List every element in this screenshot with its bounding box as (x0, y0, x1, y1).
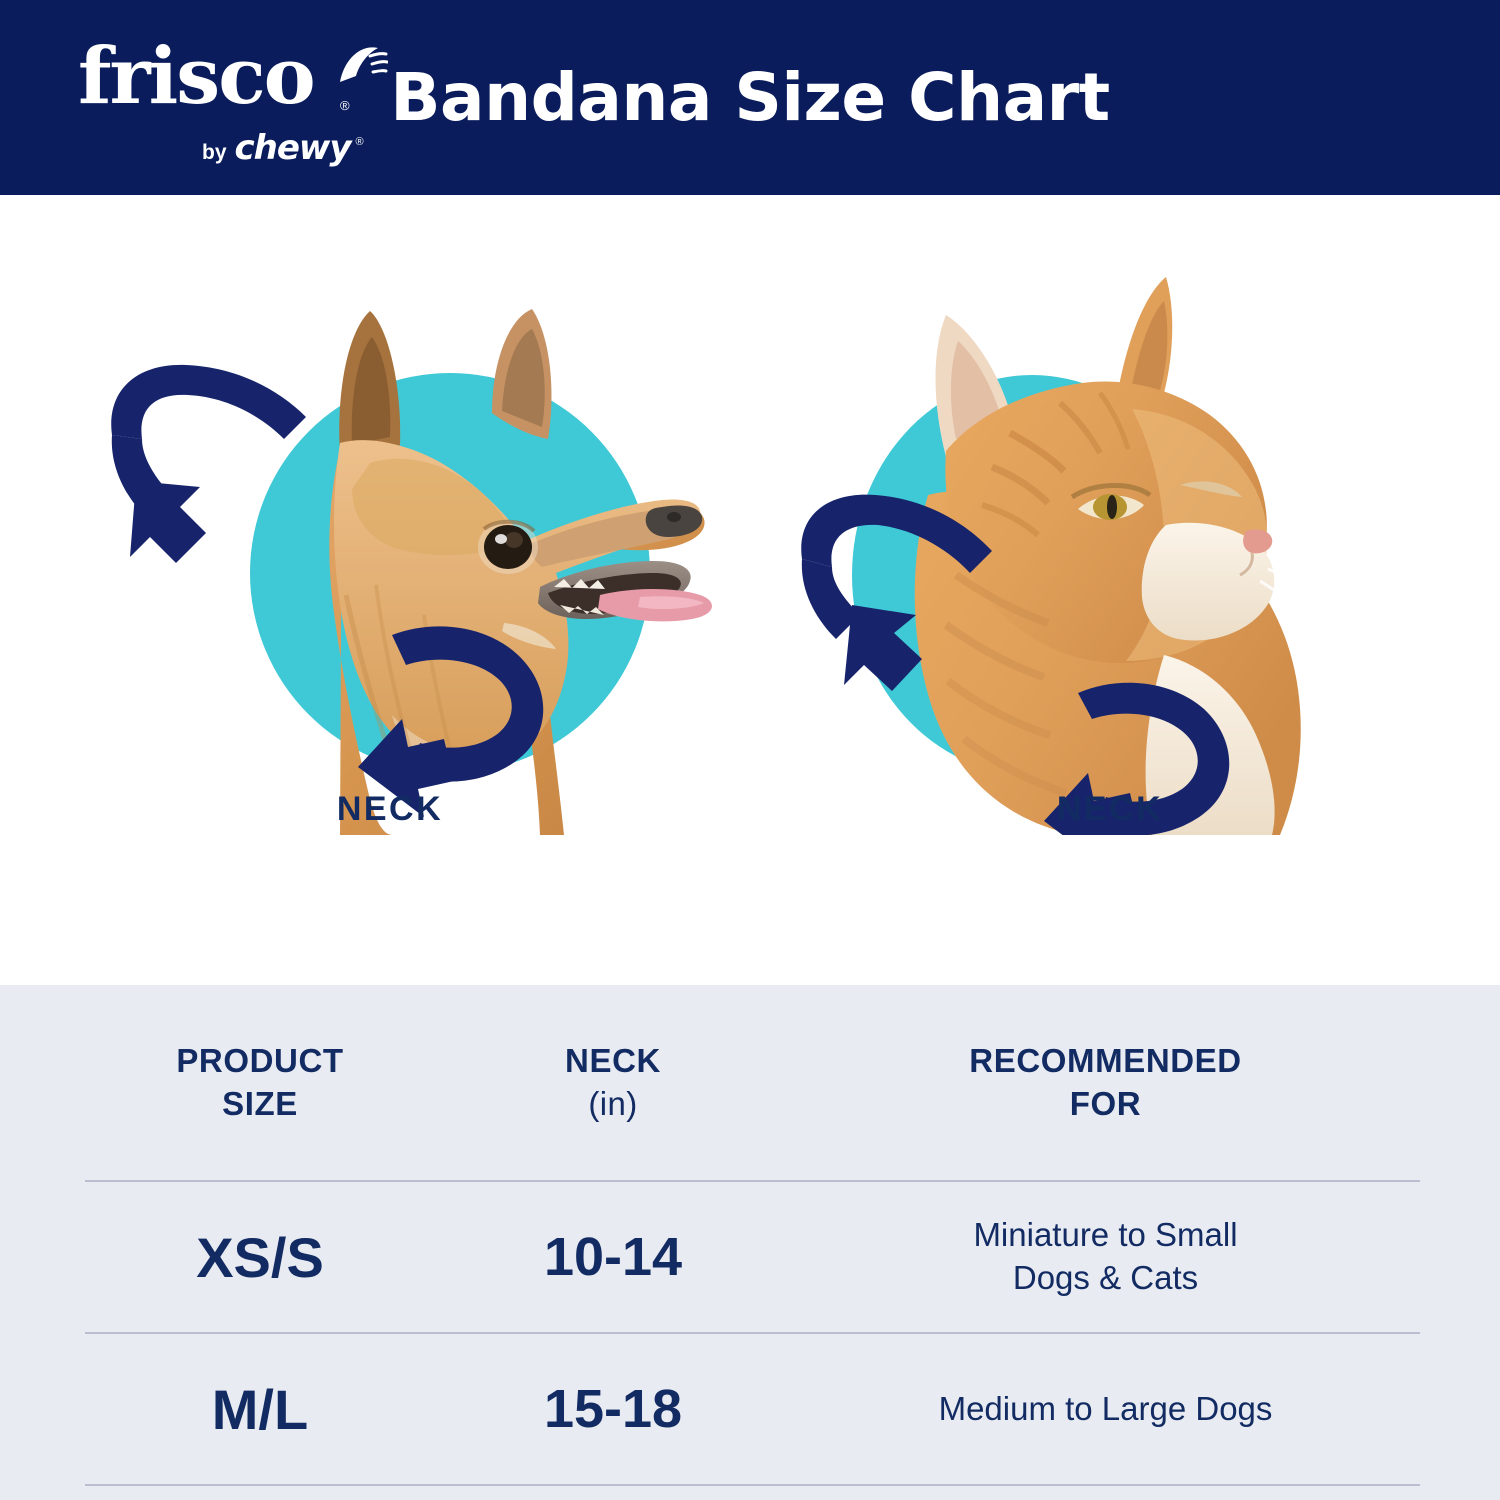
table-divider (85, 1484, 1420, 1486)
dog-neck-label: NECK (40, 790, 740, 829)
dog-head-illustration (40, 195, 740, 835)
by-label: by (202, 141, 227, 165)
cat-measurement-diagram: NECK (760, 195, 1460, 985)
header-band: frisco ® by chewy ® Bandana Size Chart (0, 0, 1500, 195)
column-header-product-size: PRODUCT SIZE (85, 1040, 435, 1124)
table-row: M/L 15-18 Medium to Large Dogs (85, 1334, 1420, 1484)
column-header-recommended-for-line1: RECOMMENDED (969, 1042, 1241, 1079)
cell-recommended-for: Miniature to Small Dogs & Cats (791, 1214, 1420, 1300)
illustration-area: NECK (0, 195, 1500, 985)
chewy-wordmark: chewy (235, 128, 351, 168)
frisco-by-chewy-logo: frisco ® by chewy ® (72, 36, 382, 164)
size-table-inner: PRODUCT SIZE NECK (in) RECOMMENDED FOR X… (85, 985, 1420, 1486)
table-header-row: PRODUCT SIZE NECK (in) RECOMMENDED FOR (85, 985, 1420, 1180)
cell-recommended-for-line2: Dogs & Cats (1013, 1259, 1198, 1296)
column-header-neck-unit: (in) (435, 1083, 791, 1125)
column-header-product-size-line2: SIZE (222, 1085, 298, 1122)
column-header-recommended-for: RECOMMENDED FOR (791, 1040, 1420, 1124)
chewy-registered-mark: ® (356, 136, 364, 148)
bandana-size-chart-page: frisco ® by chewy ® Bandana Size Chart (0, 0, 1500, 1500)
column-header-recommended-for-line2: FOR (1070, 1085, 1141, 1122)
table-row: XS/S 10-14 Miniature to Small Dogs & Cat… (85, 1182, 1420, 1332)
cat-neck-label: NECK (760, 790, 1460, 829)
column-header-neck-line1: NECK (565, 1042, 661, 1079)
cell-product-size: M/L (85, 1377, 435, 1442)
cell-product-size: XS/S (85, 1225, 435, 1290)
frisco-tail-swoosh-icon (330, 42, 388, 92)
cell-neck-range: 10-14 (435, 1226, 791, 1288)
frisco-registered-mark: ® (340, 98, 350, 113)
cell-neck-range: 15-18 (435, 1378, 791, 1440)
size-table: PRODUCT SIZE NECK (in) RECOMMENDED FOR X… (0, 985, 1500, 1500)
by-chewy-lockup: by chewy ® (202, 128, 367, 168)
cat-head-illustration (760, 195, 1460, 835)
cell-recommended-for: Medium to Large Dogs (791, 1388, 1420, 1431)
column-header-neck: NECK (in) (435, 1040, 791, 1124)
cell-recommended-for-line1: Miniature to Small (973, 1216, 1237, 1253)
frisco-wordmark: frisco (78, 38, 314, 116)
dog-measurement-diagram: NECK (40, 195, 740, 985)
column-header-product-size-line1: PRODUCT (176, 1042, 343, 1079)
